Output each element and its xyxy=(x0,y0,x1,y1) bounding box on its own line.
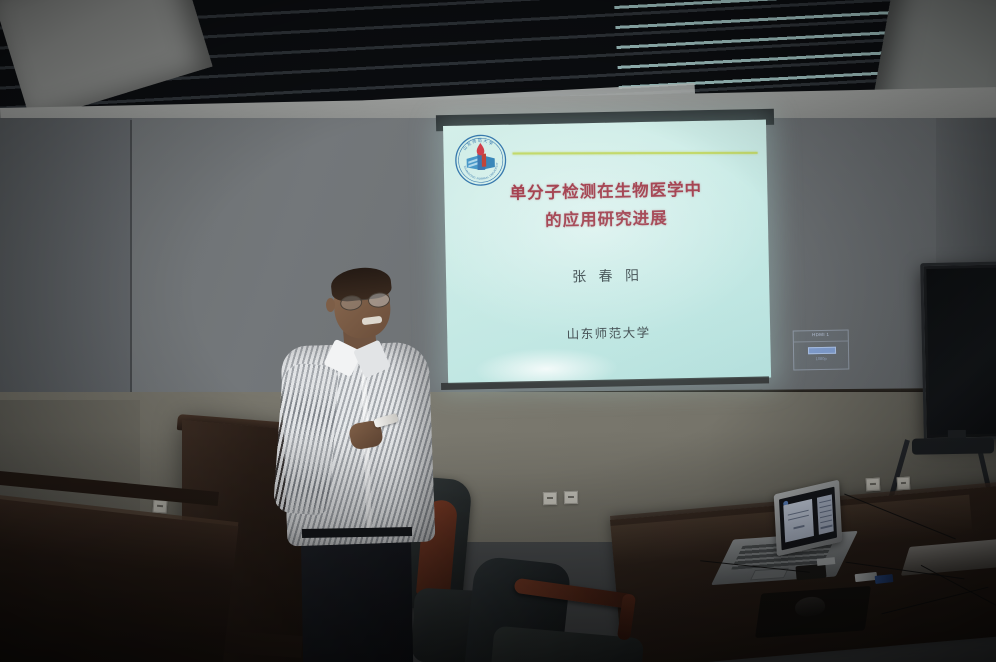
wall-outlet[interactable] xyxy=(866,478,881,492)
lecture-room-photo: 山东师范大学 SHANDONG NORMAL UNIVERSITY 单分子检测在… xyxy=(0,0,996,662)
display-stand-base xyxy=(912,437,994,454)
laptop-notes-panel xyxy=(817,494,834,534)
laptop-screen xyxy=(779,487,837,551)
slide-organization: 山东师范大学 xyxy=(447,319,770,344)
projector-hotspot xyxy=(473,347,619,384)
conference-table-left xyxy=(0,498,238,662)
conference-chair[interactable] xyxy=(470,560,630,662)
wall-outlet[interactable] xyxy=(153,500,168,514)
osd-separator xyxy=(794,341,848,343)
wall-outlet[interactable] xyxy=(564,491,578,504)
projector-input-overlay: HDMI 1 1080p xyxy=(793,330,850,371)
slide-author: 张 春 阳 xyxy=(446,263,769,289)
osd-title: HDMI 1 xyxy=(794,332,848,338)
wall-outlet[interactable] xyxy=(897,477,911,491)
slide-title-line-2: 的应用研究进展 xyxy=(445,202,768,232)
slide-text-block: 单分子检测在生物医学中 的应用研究进展 张 春 阳 山东师范大学 xyxy=(443,120,771,384)
slide-title-line-1: 单分子检测在生物医学中 xyxy=(444,175,767,205)
presenter-trousers xyxy=(301,529,413,662)
flat-panel-display xyxy=(920,261,996,441)
presenter-waist xyxy=(302,527,412,538)
presenter xyxy=(276,272,436,662)
projection-screen: 山东师范大学 SHANDONG NORMAL UNIVERSITY 单分子检测在… xyxy=(443,120,771,384)
osd-subtitle: 1080p xyxy=(794,356,848,362)
flat-panel-screen xyxy=(926,267,996,435)
wall-outlet[interactable] xyxy=(543,492,557,505)
cable-dongle xyxy=(795,564,826,581)
presenter-sleeve xyxy=(273,362,339,516)
presenter-ear xyxy=(326,298,335,312)
left-wall xyxy=(0,118,132,438)
osd-level-bar xyxy=(808,347,836,354)
laptop-slide-preview xyxy=(783,499,814,542)
wall-corner-edge xyxy=(130,120,132,420)
